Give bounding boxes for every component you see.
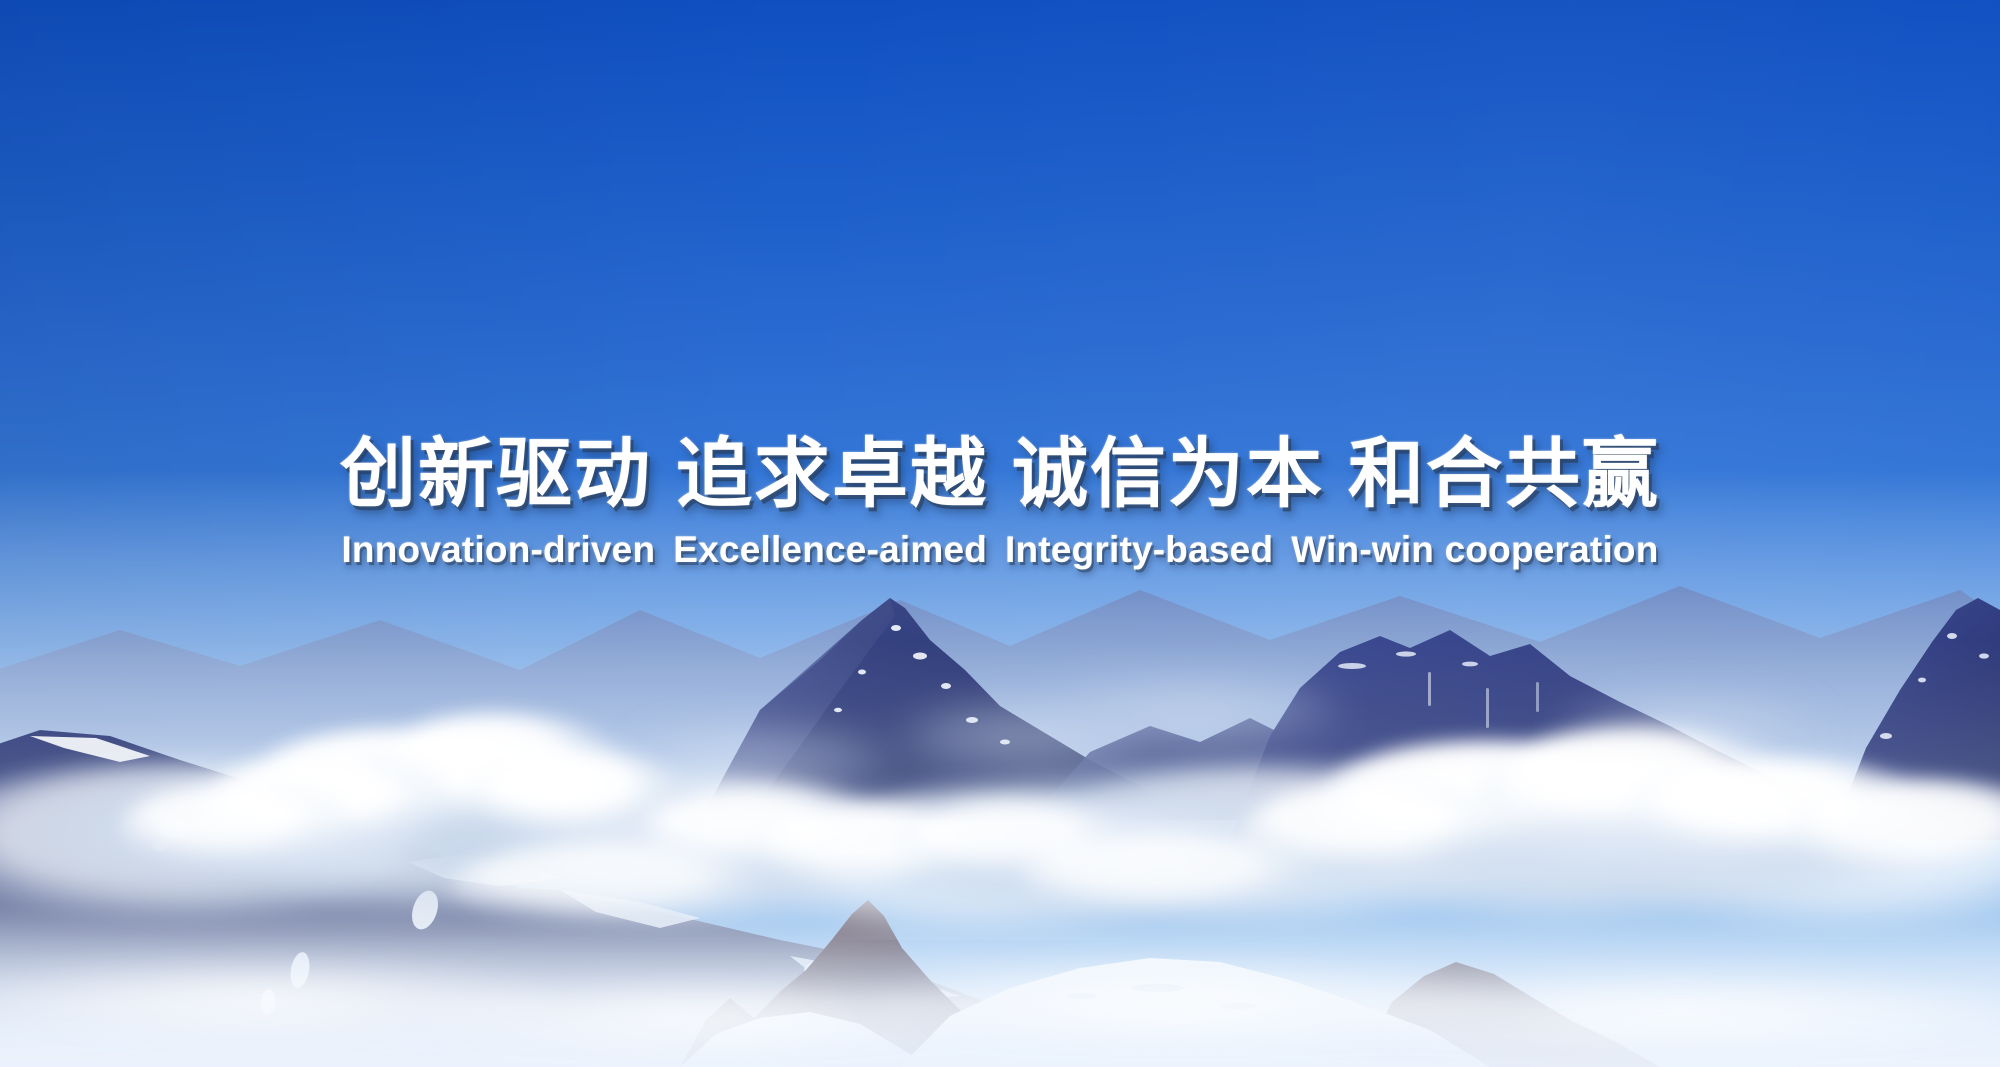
- mist-wisps: [0, 930, 2000, 1067]
- hero-banner: 创新驱动追求卓越诚信为本和合共赢 Innovation-drivenExcell…: [0, 0, 2000, 1067]
